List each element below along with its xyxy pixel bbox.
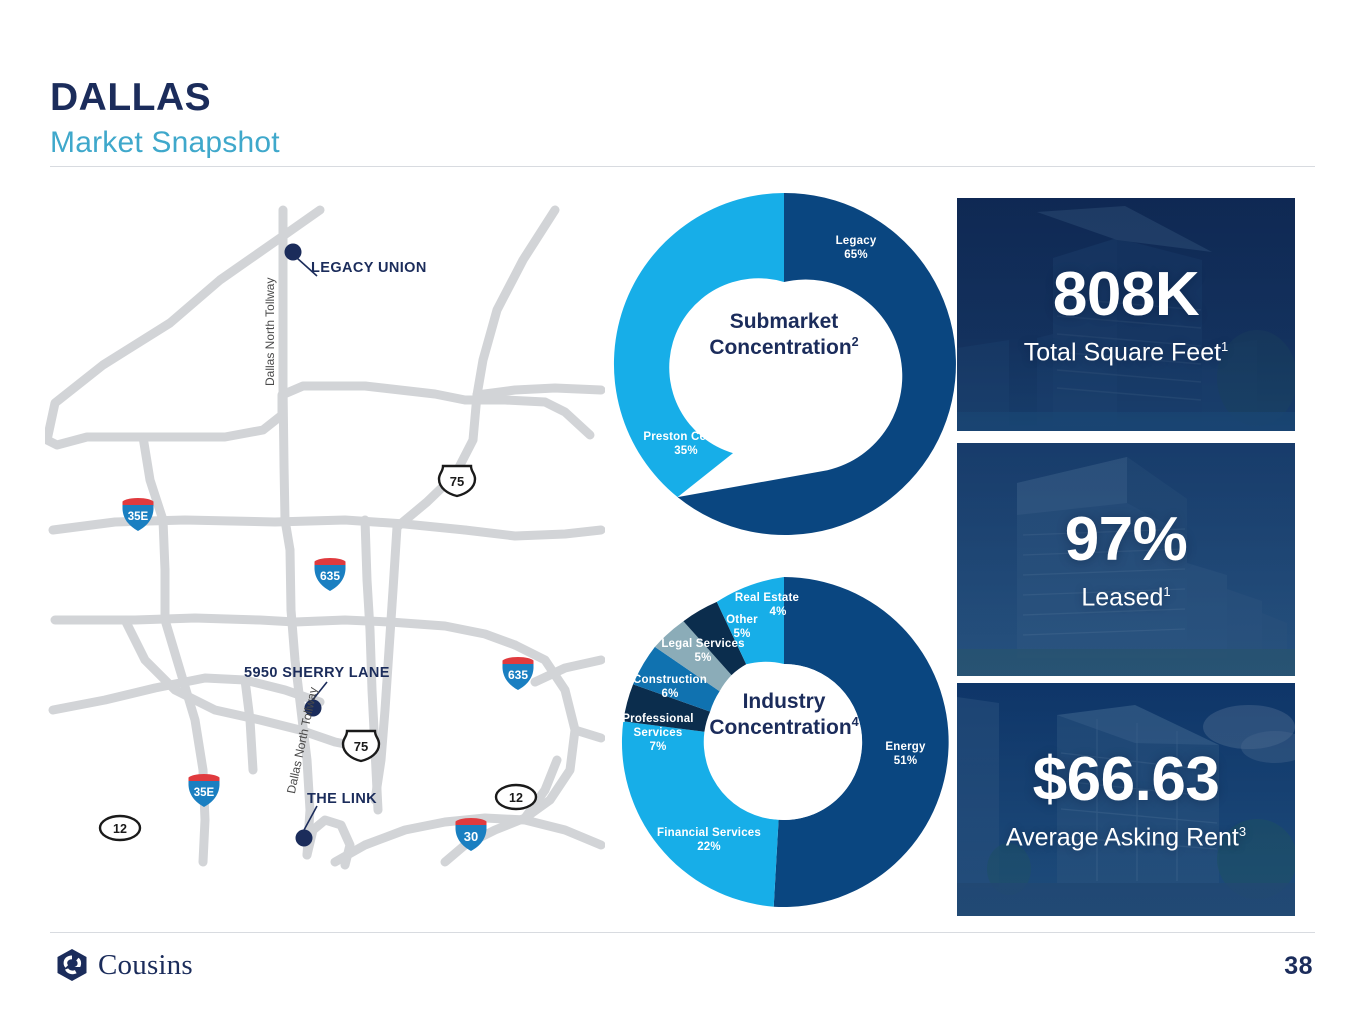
- shield-loop-12-west: 12: [98, 814, 142, 842]
- header-divider: [50, 166, 1315, 167]
- submarket-donut-center-label: Submarket Concentration2: [613, 310, 955, 361]
- cousins-wordmark: Cousins: [98, 951, 193, 980]
- pin-legacy-union: [285, 244, 302, 261]
- cousins-logo: Cousins: [55, 948, 193, 982]
- stat-value: 808K: [957, 264, 1295, 326]
- shield-interstate-635-north: 635: [312, 556, 348, 592]
- pin-the-link: [296, 830, 313, 847]
- svg-text:635: 635: [508, 668, 528, 682]
- slice-label-real-estate: Real Estate4%: [727, 591, 807, 620]
- cousins-mark-icon: [55, 948, 89, 982]
- shield-interstate-35e-north: 35E: [120, 496, 156, 532]
- leased-card[interactable]: 97% Leased1: [957, 443, 1295, 676]
- svg-text:12: 12: [509, 791, 523, 805]
- map-label-legacy-union: LEGACY UNION: [311, 260, 427, 276]
- slice-label-financial-services: Financial Services22%: [639, 826, 779, 855]
- average-asking-rent-card[interactable]: $66.63 Average Asking Rent3: [957, 683, 1295, 916]
- slice-label-legacy: Legacy65%: [806, 234, 906, 263]
- map-label-the-link: THE LINK: [307, 791, 377, 807]
- svg-text:635: 635: [320, 569, 340, 583]
- slide-root: DALLAS Market Snapshot: [0, 0, 1365, 1032]
- stat-caption: Leased1: [957, 585, 1295, 610]
- page-header: DALLAS Market Snapshot: [50, 78, 1315, 158]
- page-number: 38: [1284, 952, 1313, 981]
- stat-value: 97%: [957, 509, 1295, 571]
- shield-interstate-635-east: 635: [500, 655, 536, 691]
- page-subtitle: Market Snapshot: [50, 128, 1315, 158]
- shield-us-75-north: 75: [437, 464, 477, 498]
- shield-number: 35E: [128, 511, 149, 523]
- slice-label-professional-services: ProfessionalServices7%: [615, 713, 701, 754]
- stat-text: 808K Total Square Feet1: [957, 264, 1295, 365]
- total-square-feet-card[interactable]: 808K Total Square Feet1: [957, 198, 1295, 431]
- footer-divider: [50, 932, 1315, 933]
- shield-interstate-35e-south: 35E: [186, 772, 222, 808]
- svg-text:12: 12: [113, 822, 127, 836]
- stat-text: $66.63 Average Asking Rent3: [957, 749, 1295, 850]
- shield-us-75-south: 75: [341, 729, 381, 763]
- svg-text:30: 30: [464, 829, 478, 844]
- svg-text:75: 75: [354, 739, 368, 754]
- map-label-5950-sherry-lane: 5950 SHERRY LANE: [244, 665, 390, 681]
- stat-value: $66.63: [957, 749, 1295, 811]
- stat-text: 97% Leased1: [957, 509, 1295, 610]
- shield-loop-12-east: 12: [494, 783, 538, 811]
- map-label-dallas-north-tollway-north: Dallas North Tollway: [263, 278, 277, 387]
- slice-label-preston-center: Preston Center35%: [626, 430, 746, 459]
- page-title: DALLAS: [50, 78, 1315, 117]
- shield-interstate-30: 30: [453, 816, 489, 852]
- svg-text:35E: 35E: [194, 787, 215, 799]
- svg-text:75: 75: [450, 474, 464, 489]
- slice-label-construction: Construction6%: [624, 673, 716, 702]
- stat-caption: Total Square Feet1: [957, 340, 1295, 365]
- stat-caption: Average Asking Rent3: [957, 825, 1295, 850]
- slice-label-energy: Energy51%: [868, 740, 943, 769]
